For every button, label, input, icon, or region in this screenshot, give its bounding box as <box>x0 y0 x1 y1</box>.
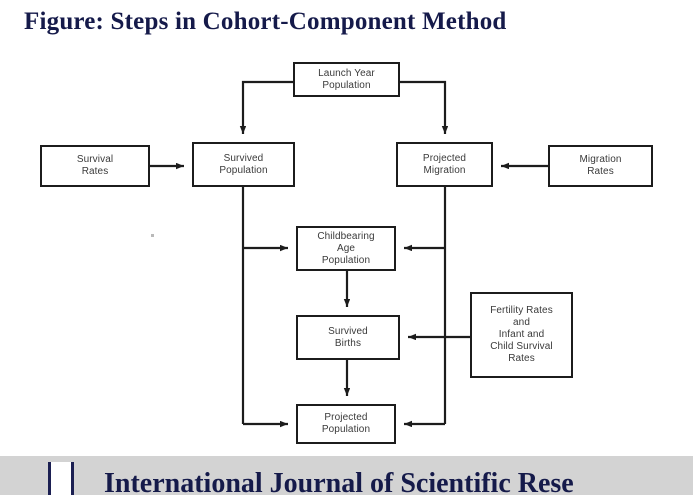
node-survived-population: Survived Population <box>192 142 295 187</box>
node-survival-rates: Survival Rates <box>40 145 150 187</box>
scan-artifact-speck <box>151 234 154 237</box>
node-migration-rates: Migration Rates <box>548 145 653 187</box>
node-fertility-rates: Fertility Rates and Infant and Child Sur… <box>470 292 573 378</box>
journal-banner: International Journal of Scientific Rese <box>0 452 693 495</box>
cohort-component-flowchart: Launch Year Population Survival Rates Su… <box>0 0 693 452</box>
node-projected-population: Projected Population <box>296 404 396 444</box>
journal-logo-icon <box>48 462 74 495</box>
node-launch-year-population: Launch Year Population <box>293 62 400 97</box>
node-survived-births: Survived Births <box>296 315 400 360</box>
edge-launch-to-survived-population <box>243 82 293 134</box>
node-childbearing-age-population: Childbearing Age Population <box>296 226 396 271</box>
banner-divider <box>0 452 693 456</box>
edge-launch-to-projected-migration <box>400 82 445 134</box>
node-projected-migration: Projected Migration <box>396 142 493 187</box>
page-root: Figure: Steps in Cohort-Component Method <box>0 0 693 495</box>
journal-title: International Journal of Scientific Rese <box>104 468 574 495</box>
